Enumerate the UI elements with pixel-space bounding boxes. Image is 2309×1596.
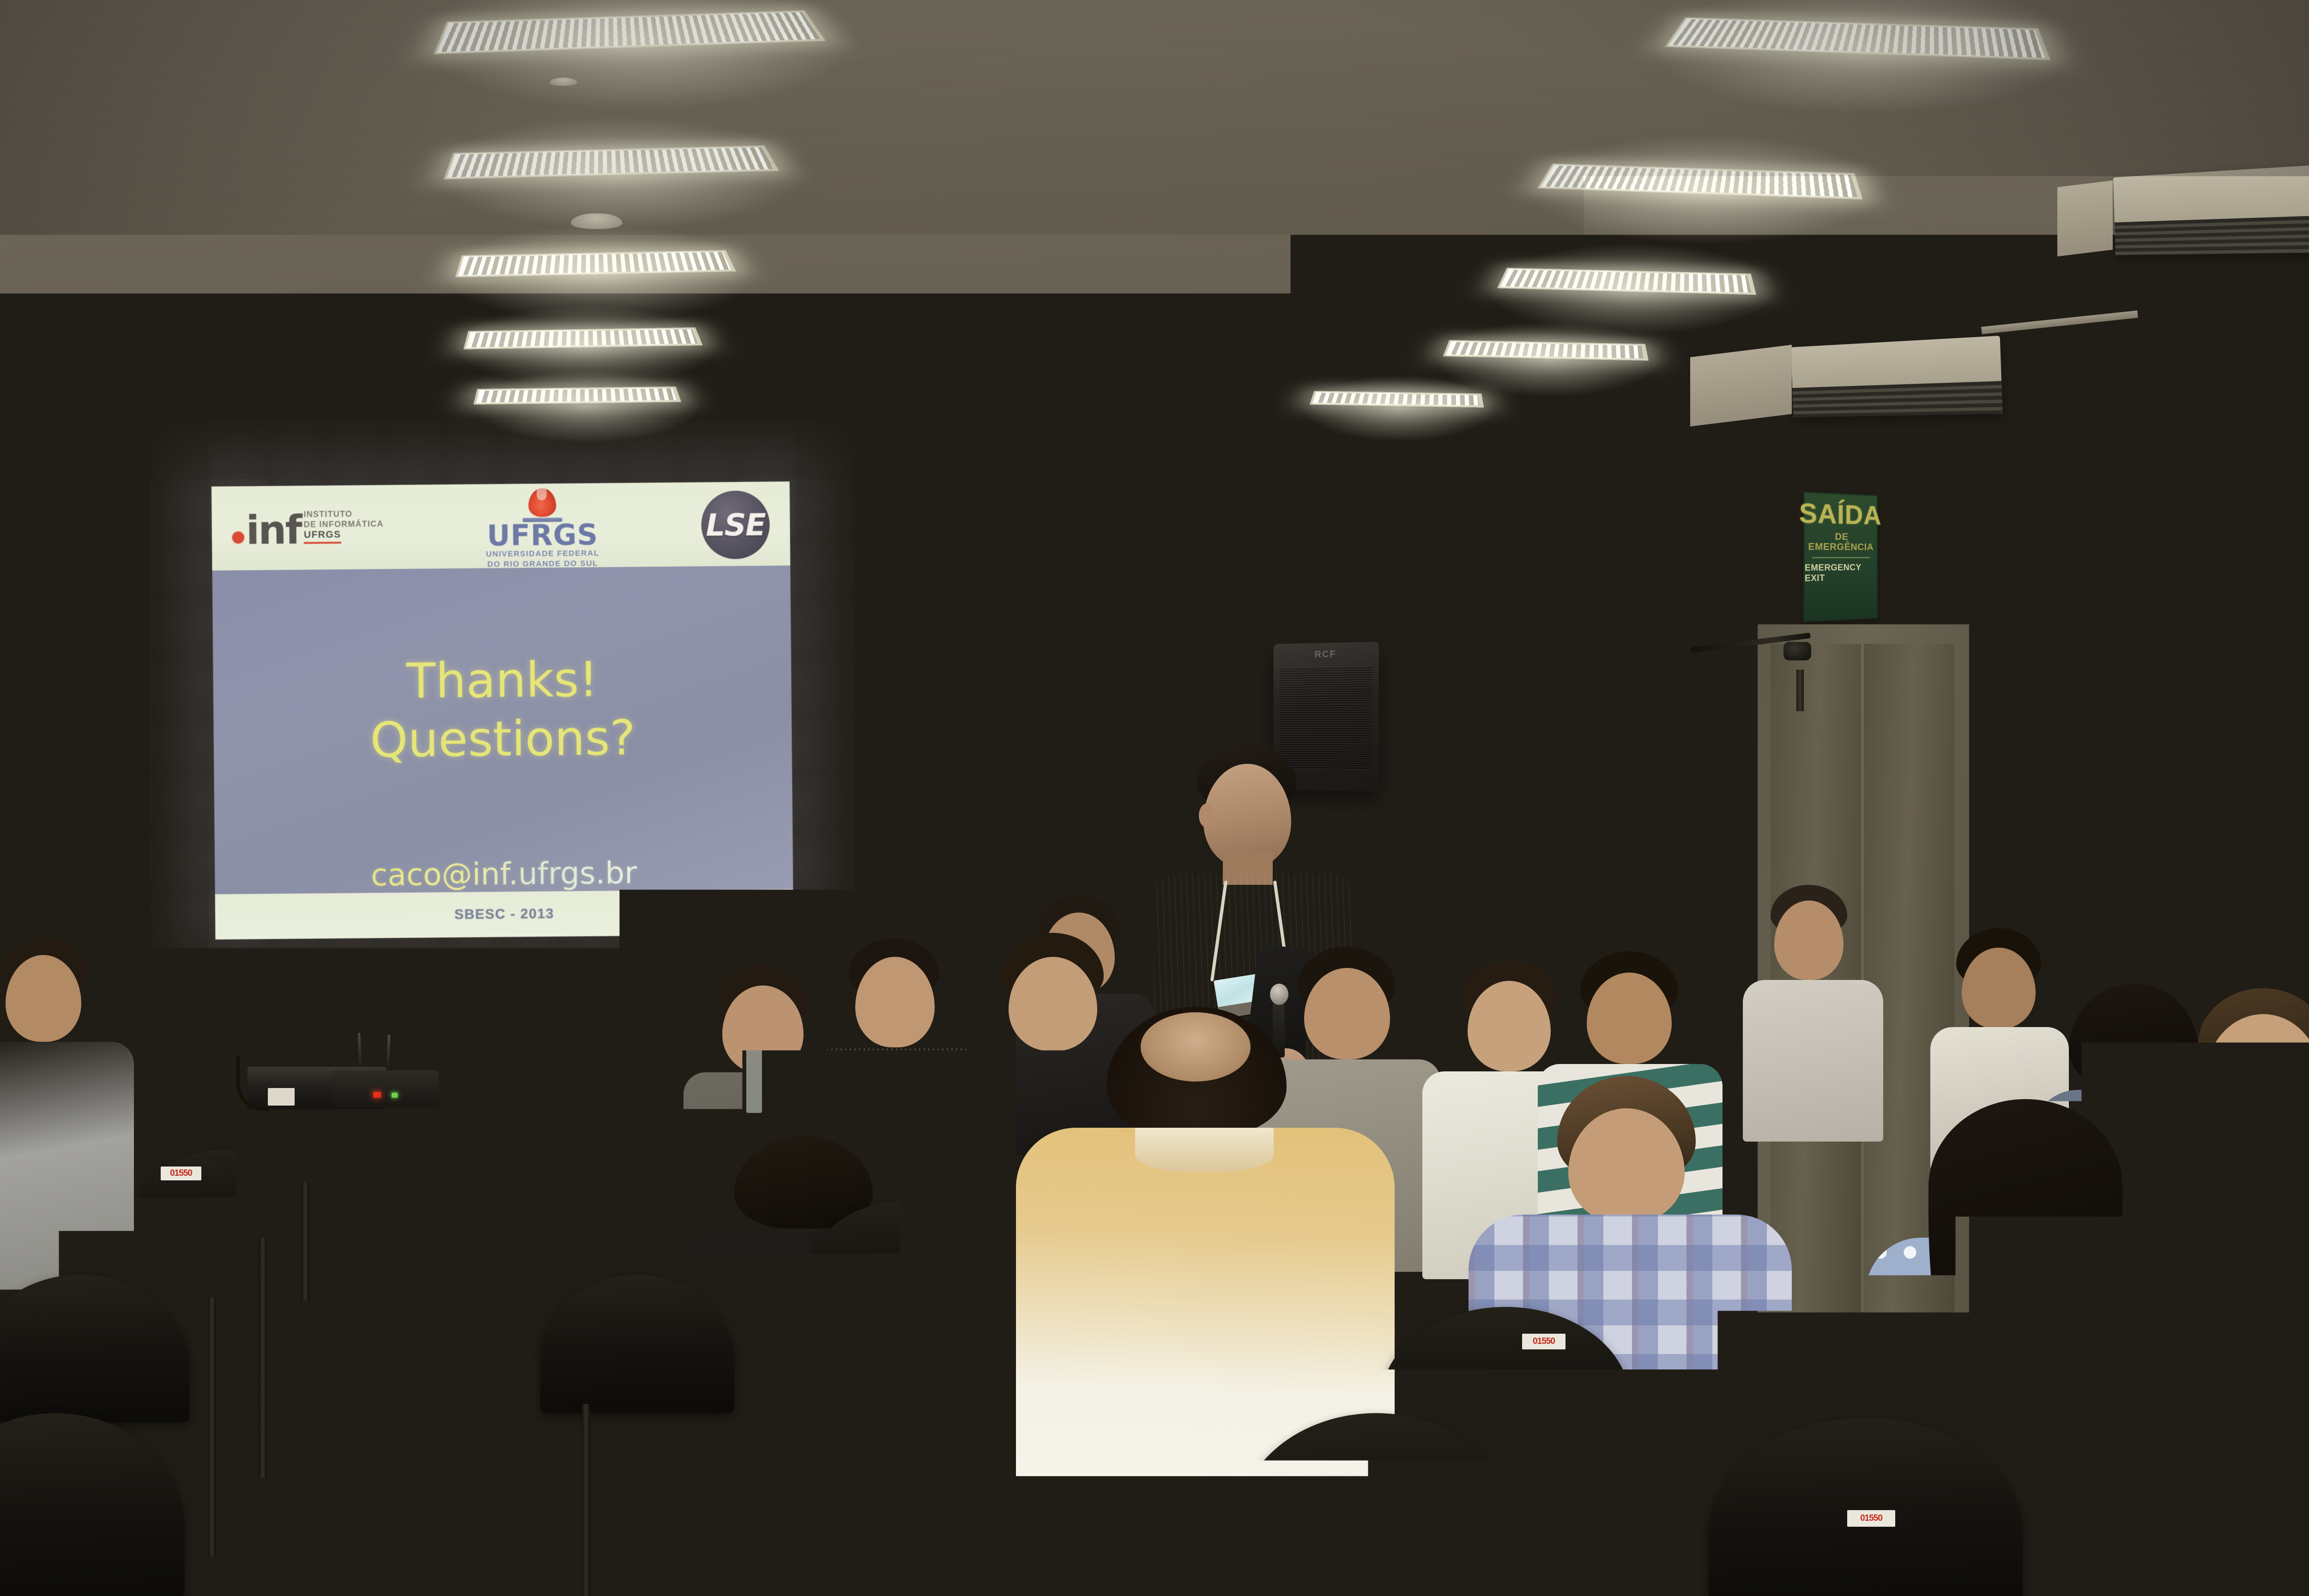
slide-footer-band: SBESC - 2013 [215,889,794,939]
inf-subtitle-line1: INSTITUTO [303,509,383,520]
inf-ufrgs-label: UFRGS [304,529,341,544]
office-chair-caster [425,1279,445,1300]
slide-title-line1: Thanks! [369,650,635,711]
audience-member [0,937,134,1316]
head-hair [2069,984,2198,1090]
chair-model-tag: 01550 [955,1286,994,1300]
chair-leg [697,1399,706,1596]
chair-model-tag: 01550 [161,1167,201,1180]
inf-wordmark: inf [246,514,301,546]
office-chair-post [342,1201,356,1261]
slide-contact-email: caco@inf.ufrgs.br [371,855,637,893]
slide-body: Thanks! Questions? caco@inf.ufrgs.br [212,566,793,895]
inf-red-dot-icon [232,531,244,543]
chair-model-tag: 01550 [1356,1499,1403,1516]
ac-duct-nose [1690,345,1792,426]
wall-red-marking [1635,594,1667,605]
mixer-label [268,1088,295,1106]
inf-subtitle-line2: DE INFORMÁTICA [304,519,384,530]
door-hinge [1796,670,1804,711]
presentation-slide: inf INSTITUTO DE INFORMÁTICA UFRGS UFRGS… [212,482,793,926]
ceiling-light-panel [1310,391,1484,407]
power-led-red-icon [373,1092,381,1098]
emergency-exit-sign: SAÍDA DE EMERGÊNCIA EMERGENCY EXIT [1803,491,1878,622]
wireless-receiver[interactable] [332,1070,439,1107]
inf-subtitle-group: INSTITUTO DE INFORMÁTICA UFRGS [303,509,383,546]
inf-wordmark-group: inf [232,514,301,546]
ufrgs-subtitle-line1: UNIVERSIDADE FEDERAL [486,549,599,559]
alarm-speaker-grille-icon [1441,597,1464,610]
inf-logo: inf INSTITUTO DE INFORMÁTICA UFRGS [232,509,384,546]
door-closer-body [1783,642,1811,660]
alarm-speaker-grille-icon [1467,597,1490,610]
presenter1-ear [1199,804,1215,828]
wall-power-outlet [1505,672,1529,699]
laptop-cable [617,1088,654,1114]
air-conditioner-unit [2113,163,2309,255]
status-led-green-icon [392,1093,398,1098]
torso [2032,1090,2235,1395]
chair-leg [259,1238,267,1478]
ceiling-light-panel [473,387,681,405]
chair-leg [208,1298,216,1556]
ac-vent-louvers [1792,381,2002,417]
ac-vent-louvers [2115,215,2309,255]
ac-duct-nose [2057,181,2113,257]
slide-title-line2: Questions? [370,708,636,769]
chair-model-tag: 01550 [2110,1509,2158,1526]
ufrgs-flame-icon [528,488,556,517]
lse-logo: LSE [701,490,770,559]
chair-model-tag: 01550 [1847,1510,1895,1527]
ufrgs-logo: UFRGS UNIVERSIDADE FEDERAL DO RIO GRANDE… [485,488,599,569]
lse-wordmark: LSE [706,507,765,543]
air-conditioner-unit [1791,336,2002,417]
smoke-detector [571,213,623,229]
chair-leg [582,1404,590,1596]
smoke-detector [550,78,577,86]
conference-room-scene: inf INSTITUTO DE INFORMÁTICA UFRGS UFRGS… [0,0,2309,1596]
exit-sign-saida-text: SAÍDA [1799,500,1881,528]
exit-sign-emergencia-text: DE EMERGÊNCIA [1805,532,1877,553]
audience-member [2023,984,2244,1399]
table-leg [485,1144,494,1288]
pa-speaker-brand: RCF [1315,649,1336,660]
bald-crown [1141,1012,1251,1082]
slide-title: Thanks! Questions? [369,650,636,769]
chair-leg [301,1182,309,1413]
slide-header-band: inf INSTITUTO DE INFORMÁTICA UFRGS UFRGS… [212,482,791,571]
slide-footer-text: SBESC - 2013 [454,906,554,923]
projector-cable [443,1086,517,1128]
wall-alarm-panel [1437,592,1494,642]
projection-screen: inf INSTITUTO DE INFORMÁTICA UFRGS UFRGS… [212,482,793,926]
collar [1135,1128,1274,1172]
chair-model-tag: 01550 [1522,1334,1566,1349]
exit-sign-divider [1812,557,1870,558]
ufrgs-wordmark: UFRGS [486,521,599,549]
exit-sign-english-text: EMERGENCY EXIT [1805,563,1877,584]
